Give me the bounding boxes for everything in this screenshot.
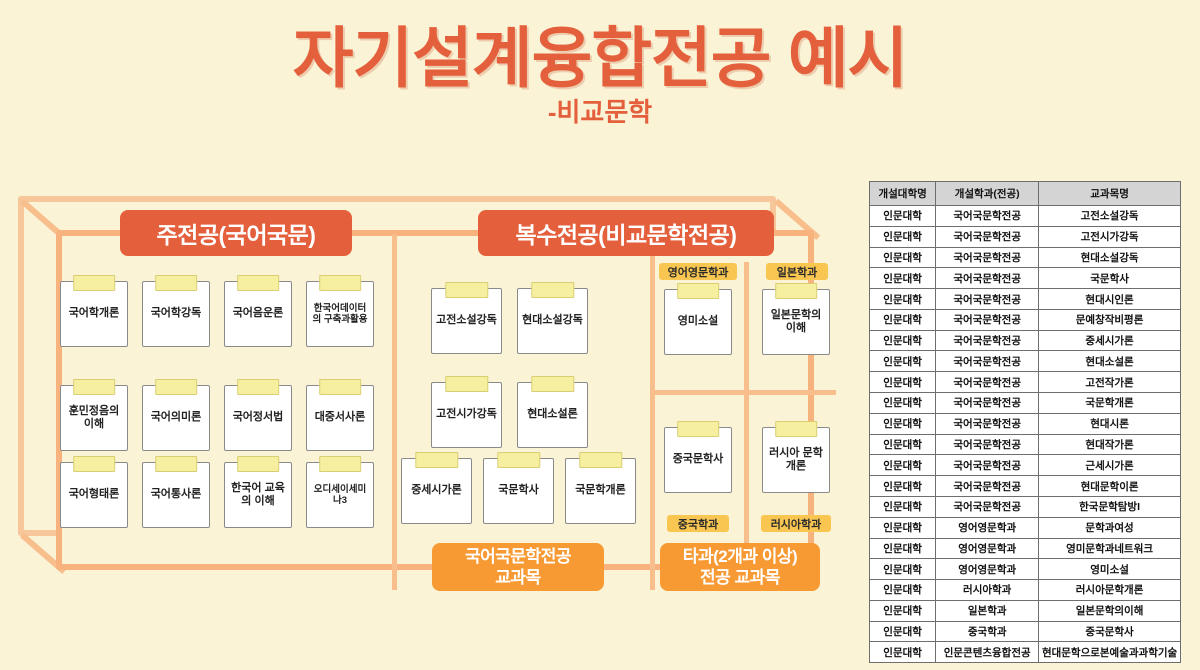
course-card[interactable]: 중세시가론 [401,458,472,524]
dept-tag-english: 영어영문학과 [659,263,737,280]
table-body: 인문대학국어국문학전공고전소설강독인문대학국어국문학전공고전시가강독인문대학국어… [870,206,1181,663]
banner-major: 주전공(국어국문) [120,210,352,256]
course-card-label: 오디세이세미나3 [307,484,373,507]
card-tape [415,452,458,468]
table-row: 인문대학러시아학과러시아문학개론 [870,580,1181,601]
table-cell-college: 인문대학 [870,268,936,289]
table-cell-college: 인문대학 [870,476,936,497]
card-tape [155,379,197,395]
table-cell-department: 국어국문학전공 [936,309,1039,330]
table-cell-department: 국어국문학전공 [936,434,1039,455]
table-header-row: 개설대학명 개설학과(전공) 교과목명 [870,182,1181,206]
dept-tag-label: 러시아학과 [771,516,822,532]
table-cell-college: 인문대학 [870,517,936,538]
table-cell-department: 국어국문학전공 [936,351,1039,372]
table-cell-college: 인문대학 [870,309,936,330]
table-row: 인문대학국어국문학전공한국문학탐방I [870,496,1181,517]
card-tape [319,275,361,291]
table-row: 인문대학국어국문학전공현대작가론 [870,434,1181,455]
table-cell-course: 국문학개론 [1039,393,1181,414]
table-cell-college: 인문대학 [870,642,936,663]
table-cell-course: 문예창작비평론 [1039,309,1181,330]
course-card-label: 고전소설강독 [433,314,500,327]
card-tape [677,283,719,299]
table-cell-college: 인문대학 [870,538,936,559]
table-cell-college: 인문대학 [870,372,936,393]
table-cell-department: 일본학과 [936,600,1039,621]
table-cell-department: 국어국문학전공 [936,496,1039,517]
card-tape [445,282,488,298]
foot-label-other-depts: 타과(2개과 이상)전공 교과목 [660,543,820,591]
course-card[interactable]: 국어형태론 [60,462,128,528]
table-cell-department: 국어국문학전공 [936,476,1039,497]
table-row: 인문대학국어국문학전공현대문학이론 [870,476,1181,497]
course-card[interactable]: 고전소설강독 [431,288,502,354]
course-card[interactable]: 국어학강독 [142,281,210,347]
isometric-frame [18,196,838,596]
course-card-label: 국어학강독 [148,307,205,320]
card-tape [531,282,574,298]
course-card[interactable]: 러시아 문학개론 [762,427,830,493]
table-cell-college: 인문대학 [870,247,936,268]
course-card[interactable]: 현대소설강독 [517,288,588,354]
table-cell-department: 인문콘텐츠융합전공 [936,642,1039,663]
table-cell-department: 영어영문학과 [936,538,1039,559]
course-card-label: 영미소설 [675,315,721,328]
table-row: 인문대학국어국문학전공고전소설강독 [870,206,1181,227]
course-card-label: 훈민정음의 이해 [61,405,127,431]
table-cell-course: 근세시가론 [1039,455,1181,476]
card-tape [237,456,279,472]
card-tape [579,452,622,468]
card-tape [155,456,197,472]
dept-tag-label: 중국학과 [678,516,718,532]
table-cell-course: 고전소설강독 [1039,206,1181,227]
card-tape [531,376,574,392]
table-cell-college: 인문대학 [870,559,936,580]
course-card[interactable]: 국어정서법 [224,385,292,451]
course-card[interactable]: 국어학개론 [60,281,128,347]
course-table-wrapper: 개설대학명 개설학과(전공) 교과목명 인문대학국어국문학전공고전소설강독인문대… [869,181,1181,663]
table-row: 인문대학영어영문학과영미문학과네트워크 [870,538,1181,559]
dept-tag-russian: 러시아학과 [761,515,831,532]
table-cell-department: 영어영문학과 [936,559,1039,580]
course-card-label: 국문학개론 [572,484,629,497]
table-cell-department: 영어영문학과 [936,517,1039,538]
course-card[interactable]: 중국문학사 [664,427,732,493]
course-card[interactable]: 한국어데이터의 구축과활용 [306,281,374,347]
table-cell-college: 인문대학 [870,434,936,455]
card-tape [677,421,719,437]
table-row: 인문대학영어영문학과문학과여성 [870,517,1181,538]
course-card-label: 러시아 문학개론 [763,447,829,473]
card-tape [73,275,115,291]
table-cell-course: 문학과여성 [1039,517,1181,538]
course-card[interactable]: 국어통사론 [142,462,210,528]
page-title: 자기설계융합전공 예시 [0,24,1200,93]
course-card-label: 국어의미론 [148,411,205,424]
table-cell-course: 현대시인론 [1039,289,1181,310]
page-subtitle: -비교문학 [0,99,1200,125]
table-cell-department: 국어국문학전공 [936,330,1039,351]
table-cell-course: 고전작가론 [1039,372,1181,393]
table-cell-college: 인문대학 [870,393,936,414]
course-card-label: 한국어 교육의 이해 [225,482,291,508]
table-cell-course: 중세시가론 [1039,330,1181,351]
course-table: 개설대학명 개설학과(전공) 교과목명 인문대학국어국문학전공고전소설강독인문대… [869,181,1181,663]
course-card-label: 국어학개론 [66,307,123,320]
card-tape [775,421,817,437]
dept-tag-label: 일본학과 [777,264,817,280]
panel-divider-major [392,234,397,590]
table-cell-course: 중국문학사 [1039,621,1181,642]
table-cell-department: 국어국문학전공 [936,206,1039,227]
card-tape [73,456,115,472]
table-row: 인문대학영어영문학과영미소설 [870,559,1181,580]
table-header-course: 교과목명 [1039,182,1181,206]
card-tape [155,275,197,291]
course-card[interactable]: 고전시가강독 [431,382,502,448]
course-card[interactable]: 국문학사 [483,458,554,524]
table-cell-department: 러시아학과 [936,580,1039,601]
dept-tag-label: 영어영문학과 [668,264,729,280]
card-tape [237,275,279,291]
table-row: 인문대학국어국문학전공고전작가론 [870,372,1181,393]
table-cell-course: 현대소설론 [1039,351,1181,372]
title-block: 자기설계융합전공 예시 -비교문학 [0,24,1200,125]
course-card-label: 국어통사론 [148,488,205,501]
table-cell-college: 인문대학 [870,621,936,642]
card-tape [775,283,817,299]
table-cell-course: 러시아문학개론 [1039,580,1181,601]
card-tape [73,379,115,395]
table-cell-department: 국어국문학전공 [936,455,1039,476]
table-row: 인문대학국어국문학전공국문학개론 [870,393,1181,414]
table-row: 인문대학중국학과중국문학사 [870,621,1181,642]
table-cell-course: 고전시가강독 [1039,226,1181,247]
table-row: 인문대학국어국문학전공근세시가론 [870,455,1181,476]
course-card-label: 일본문학의 이해 [763,309,829,335]
table-row: 인문대학국어국문학전공현대시인론 [870,289,1181,310]
course-card-label: 고전시가강독 [433,408,500,421]
table-cell-college: 인문대학 [870,580,936,601]
table-cell-course: 현대문학으로본예술과과학기술 [1039,642,1181,663]
foot-label-korean-lit: 국어국문학전공교과목 [432,543,604,591]
table-cell-course: 일본문학의이해 [1039,600,1181,621]
table-cell-college: 인문대학 [870,226,936,247]
table-cell-college: 인문대학 [870,600,936,621]
table-cell-department: 중국학과 [936,621,1039,642]
panel-divider-dept-row [650,390,836,395]
table-cell-course: 현대문학이론 [1039,476,1181,497]
table-cell-department: 국어국문학전공 [936,393,1039,414]
table-cell-college: 인문대학 [870,351,936,372]
table-cell-course: 현대시론 [1039,413,1181,434]
course-card-label: 국문학사 [495,484,541,497]
course-card[interactable]: 현대소설론 [517,382,588,448]
course-card[interactable]: 대중서사론 [306,385,374,451]
course-card[interactable]: 훈민정음의 이해 [60,385,128,451]
table-cell-college: 인문대학 [870,496,936,517]
course-card-label: 현대소설강독 [519,314,586,327]
course-card-label: 국어정서법 [230,411,287,424]
course-card-label: 한국어데이터의 구축과활용 [307,303,373,326]
course-card[interactable]: 오디세이세미나3 [306,462,374,528]
course-card[interactable]: 국문학개론 [565,458,636,524]
table-cell-department: 국어국문학전공 [936,413,1039,434]
table-header-department: 개설학과(전공) [936,182,1039,206]
dept-tag-japanese: 일본학과 [766,263,828,280]
card-tape [445,376,488,392]
course-card[interactable]: 한국어 교육의 이해 [224,462,292,528]
table-cell-college: 인문대학 [870,330,936,351]
table-row: 인문대학국어국문학전공고전시가강독 [870,226,1181,247]
table-row: 인문대학국어국문학전공현대소설강독 [870,247,1181,268]
table-cell-department: 국어국문학전공 [936,226,1039,247]
course-card-label: 국어음운론 [230,307,287,320]
panel-divider-dept-column [744,262,749,562]
table-cell-course: 국문학사 [1039,268,1181,289]
table-cell-college: 인문대학 [870,455,936,476]
table-cell-college: 인문대학 [870,289,936,310]
table-row: 인문대학국어국문학전공문예창작비평론 [870,309,1181,330]
course-card-label: 대중서사론 [312,411,369,424]
dept-tag-chinese: 중국학과 [667,515,729,532]
table-row: 인문대학인문콘텐츠융합전공현대문학으로본예술과과학기술 [870,642,1181,663]
card-tape [319,379,361,395]
card-tape [319,456,361,472]
table-row: 인문대학국어국문학전공중세시가론 [870,330,1181,351]
table-row: 인문대학일본학과일본문학의이해 [870,600,1181,621]
table-header-college: 개설대학명 [870,182,936,206]
table-row: 인문대학국어국문학전공국문학사 [870,268,1181,289]
table-cell-department: 국어국문학전공 [936,268,1039,289]
table-cell-college: 인문대학 [870,413,936,434]
table-cell-course: 현대소설강독 [1039,247,1181,268]
table-row: 인문대학국어국문학전공현대소설론 [870,351,1181,372]
table-cell-course: 한국문학탐방I [1039,496,1181,517]
course-card[interactable]: 국어의미론 [142,385,210,451]
table-cell-department: 국어국문학전공 [936,289,1039,310]
course-card-label: 현대소설론 [524,408,581,421]
table-cell-department: 국어국문학전공 [936,372,1039,393]
course-card[interactable]: 일본문학의 이해 [762,289,830,355]
table-cell-college: 인문대학 [870,206,936,227]
banner-double-major: 복수전공(비교문학전공) [478,210,774,256]
card-tape [497,452,540,468]
table-cell-course: 영미소설 [1039,559,1181,580]
course-card-label: 중세시가론 [408,484,465,497]
course-card[interactable]: 국어음운론 [224,281,292,347]
course-card-label: 국어형태론 [66,488,123,501]
card-tape [237,379,279,395]
table-cell-course: 현대작가론 [1039,434,1181,455]
table-cell-department: 국어국문학전공 [936,247,1039,268]
course-card-label: 중국문학사 [670,453,727,466]
table-cell-course: 영미문학과네트워크 [1039,538,1181,559]
course-card[interactable]: 영미소설 [664,289,732,355]
table-row: 인문대학국어국문학전공현대시론 [870,413,1181,434]
panel-divider-double-major [650,234,655,590]
